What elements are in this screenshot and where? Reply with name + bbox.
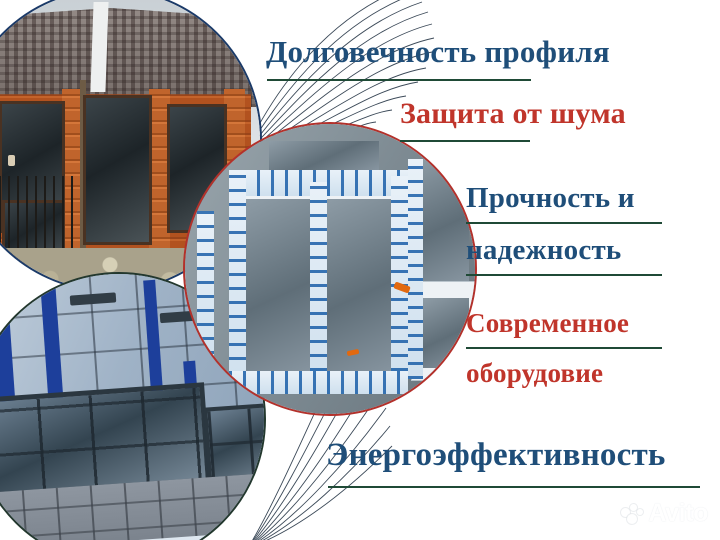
slogan-strength: Прочность и (466, 182, 635, 215)
window-glass-pane (324, 199, 394, 373)
slogan-rule (267, 79, 531, 81)
slogan-noise-protection: Защита от шума (400, 97, 626, 131)
slogan-rule (400, 140, 530, 142)
slogan-rule (466, 347, 662, 349)
slogan-rule (466, 222, 662, 224)
window-glass-pane (423, 298, 469, 368)
avito-watermark: Avito (621, 501, 708, 526)
slogan-rule (328, 486, 700, 488)
veka-protective-film (310, 182, 327, 385)
tiled-roof (0, 8, 262, 107)
balcony-railing (0, 176, 80, 248)
slogan-reliability: надежность (466, 234, 621, 267)
house-window (83, 95, 152, 245)
slogan-durability: Долговечность профиля (266, 34, 610, 70)
veka-protective-film (408, 159, 423, 379)
slogan-modern: Современное (466, 308, 629, 339)
veka-protective-film (197, 211, 214, 368)
promo-banner: Долговечность профиля Защита от шума Про… (0, 0, 720, 540)
slogan-rule (466, 274, 662, 276)
veka-protective-film (229, 371, 409, 394)
window-transom-pane (269, 141, 379, 170)
slogan-energy-efficiency: Энергоэффективность (326, 437, 666, 474)
photo-veka-pvc-windows (183, 122, 477, 416)
veka-protective-film (229, 170, 246, 388)
slogan-equipment: оборудовие (466, 358, 603, 389)
window-glass-pane (246, 199, 313, 373)
avito-wordmark: Avito (648, 501, 708, 526)
avito-dots-icon (621, 504, 643, 524)
window-glass-pane (417, 159, 469, 281)
roof-ridge (90, 2, 108, 92)
wall-lamp (8, 155, 15, 166)
veka-protective-film (391, 176, 408, 385)
